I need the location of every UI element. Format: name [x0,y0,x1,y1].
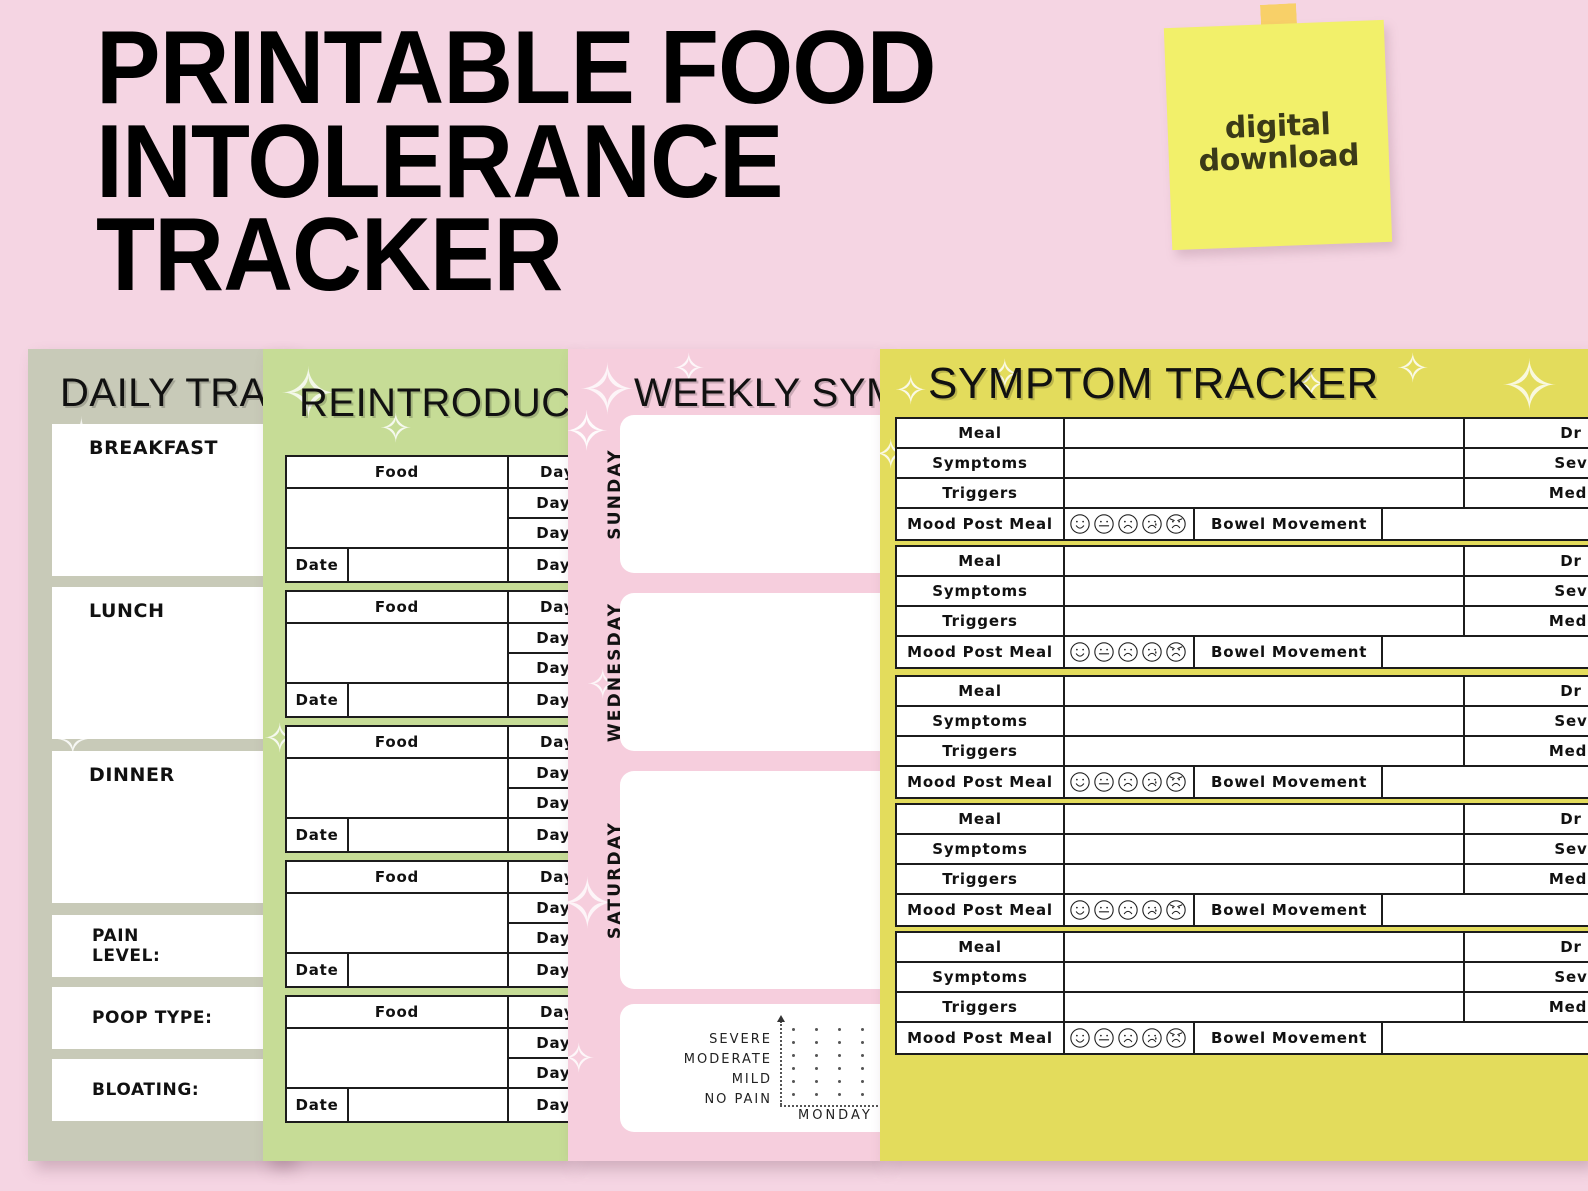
panel-symptom-tracker[interactable]: ✧ ✧ ✧ ✧ ✧ ✧ SYMPTOM TRACKER MealDrSympto… [880,349,1588,1161]
symptom-row-input-meal[interactable] [1065,933,1465,963]
daily-row-painlevel[interactable]: PAIN LEVEL:( [52,915,290,977]
symptom-row-label-symptoms: Symptoms [897,835,1065,865]
daily-row-label: BLOATING: [52,1080,199,1100]
panel-reintroduction-title: REINTRODUC [299,381,568,426]
symptom-tracker-table[interactable]: MealDrSymptomsSevTriggersMediMood Post M… [895,803,1588,927]
angry-face-icon[interactable] [1165,1027,1187,1049]
symptom-row-input-symptoms[interactable] [1065,449,1465,479]
symptom-right-label-severity: Sev [1465,449,1588,479]
weekly-entry-box-sunday[interactable] [620,415,880,573]
bowel-movement-label: Bowel Movement [1197,509,1383,539]
reintro-day-2-label: Day 2 [509,1059,568,1089]
symptom-row-label-symptoms: Symptoms [897,707,1065,737]
reintro-food-input[interactable] [287,489,509,549]
reintro-food-input[interactable] [287,1029,509,1089]
mood-rating-row[interactable]: Bowel Movement [1065,767,1588,797]
page-title: PRINTABLE FOOD INTOLERANCE TRACKER [96,22,1026,303]
symptom-right-label-drinks: Dr [1465,547,1588,577]
symptom-tracker-table[interactable]: MealDrSymptomsSevTriggersMediMood Post M… [895,931,1588,1055]
chart-x-axis-label: MONDAY [798,1108,873,1123]
symptom-row-input-symptoms[interactable] [1065,835,1465,865]
reintroduction-table[interactable]: FoodDaysQDay 1Day 2DateDay 3 [285,860,568,988]
reintro-day-1-label: Day 1 [509,489,568,519]
neutral-face-icon[interactable] [1093,1027,1115,1049]
happy-face-icon[interactable] [1069,771,1091,793]
symptom-row-input-meal[interactable] [1065,547,1465,577]
crying-face-icon[interactable] [1141,899,1163,921]
neutral-face-icon[interactable] [1093,513,1115,535]
daily-meal-card-breakfast[interactable]: BREAKFAST [52,424,290,576]
symptom-right-label-drinks: Dr [1465,419,1588,449]
symptom-right-label-medication: Medi [1465,737,1588,767]
symptom-right-label-drinks: Dr [1465,933,1588,963]
reintro-date-input[interactable] [349,819,509,851]
symptom-row-input-meal[interactable] [1065,677,1465,707]
star-decoration-icon: ✧ [568,405,609,459]
reintro-day-3-label: Day 3 [509,819,568,851]
symptom-row-label-mood-post-meal: Mood Post Meal [897,1023,1065,1053]
symptom-row-input-symptoms[interactable] [1065,577,1465,607]
happy-face-icon[interactable] [1069,641,1091,663]
weekly-entry-box-wednesday[interactable] [620,593,880,751]
chart-y-tick: MILD [628,1070,772,1090]
symptom-row-label-meal: Meal [897,419,1065,449]
panel-weekly-symptom[interactable]: ✧ ✧ ✧ ✧ ✧ ✧ ✧ WEEKLY SYM SUNDAYWEDNESDAY… [568,349,880,1161]
reintro-day-3-label: Day 3 [509,684,568,716]
reintro-date-label: Date [287,549,349,581]
sad-face-icon[interactable] [1117,771,1139,793]
pain-level-chart[interactable]: SEVEREMODERATEMILDNO PAIN MONDAY [620,1004,880,1132]
reintro-day-3-label: Day 3 [509,954,568,986]
symptom-right-label-severity: Sev [1465,707,1588,737]
angry-face-icon[interactable] [1165,513,1187,535]
reintro-food-input[interactable] [287,624,509,684]
reintroduction-table[interactable]: FoodDaysQDay 1Day 2DateDay 3 [285,995,568,1123]
digital-download-label: digital download [1197,108,1360,178]
reintro-date-label: Date [287,819,349,851]
reintro-date-label: Date [287,684,349,716]
mood-rating-row[interactable]: Bowel Movement [1065,1023,1588,1053]
daily-row-label: PAIN LEVEL: [52,926,205,966]
daily-row-bloating[interactable]: BLOATING: [52,1059,290,1121]
mood-face-group[interactable] [1069,637,1195,667]
daily-meal-card-lunch[interactable]: LUNCH [52,587,290,739]
symptom-row-input-triggers[interactable] [1065,479,1465,509]
chart-y-tick: SEVERE [628,1030,772,1050]
reintro-header-food: Food [287,592,509,624]
reintro-header-food: Food [287,862,509,894]
reintro-header-food: Food [287,457,509,489]
sad-face-icon[interactable] [1117,1027,1139,1049]
symptom-row-label-meal: Meal [897,547,1065,577]
reintroduction-table[interactable]: FoodDaysQDay 1Day 2DateDay 3 [285,590,568,718]
reintro-date-input[interactable] [349,549,509,581]
reintro-day-2-label: Day 2 [509,924,568,954]
reintro-day-2-label: Day 2 [509,519,568,549]
reintro-date-input[interactable] [349,684,509,716]
angry-face-icon[interactable] [1165,899,1187,921]
daily-row-label: POOP TYPE: [52,1008,213,1028]
symptom-row-label-meal: Meal [897,933,1065,963]
chart-y-tick: NO PAIN [628,1090,772,1110]
star-decoration-icon: ✧ [1396,349,1430,389]
daily-meal-card-dinner[interactable]: DINNER [52,751,290,903]
symptom-right-label-medication: Medi [1465,993,1588,1023]
symptom-right-label-medication: Medi [1465,479,1588,509]
happy-face-icon[interactable] [1069,1027,1091,1049]
symptom-row-input-triggers[interactable] [1065,737,1465,767]
symptom-row-label-symptoms: Symptoms [897,577,1065,607]
symptom-row-label-mood-post-meal: Mood Post Meal [897,509,1065,539]
star-decoration-icon: ✧ [894,371,928,411]
symptom-right-label-severity: Sev [1465,963,1588,993]
symptom-row-input-triggers[interactable] [1065,993,1465,1023]
reintro-date-label: Date [287,954,349,986]
sad-face-icon[interactable] [1117,641,1139,663]
symptom-tracker-table[interactable]: MealDrSymptomsSevTriggersMediMood Post M… [895,675,1588,799]
digital-download-badge: digital download [1164,20,1392,250]
symptom-row-label-triggers: Triggers [897,479,1065,509]
symptom-row-label-mood-post-meal: Mood Post Meal [897,895,1065,925]
reintro-day-2-label: Day 2 [509,789,568,819]
bowel-movement-label: Bowel Movement [1197,1023,1383,1053]
symptom-row-label-triggers: Triggers [897,737,1065,767]
reintroduction-table[interactable]: FoodDaysQDay 1Day 2DateDay 3 [285,725,568,853]
symptom-row-label-symptoms: Symptoms [897,963,1065,993]
star-decoration-icon: ✧ [568,1039,596,1079]
reintro-day-3-label: Day 3 [509,549,568,581]
weekly-entry-box-saturday[interactable] [620,771,880,989]
crying-face-icon[interactable] [1141,513,1163,535]
symptom-row-input-meal[interactable] [1065,805,1465,835]
daily-meal-label: LUNCH [52,587,290,622]
neutral-face-icon[interactable] [1093,899,1115,921]
reintro-date-input[interactable] [349,1089,509,1121]
crying-face-icon[interactable] [1141,641,1163,663]
symptom-right-label-severity: Sev [1465,835,1588,865]
symptom-right-label-medication: Medi [1465,865,1588,895]
mood-face-group[interactable] [1069,895,1195,925]
chart-dot-grid [792,1028,880,1102]
panel-daily-tracker[interactable]: ✧ ✧ DAILY TRA BREAKFASTLUNCHDINNERPAIN L… [28,349,290,1161]
happy-face-icon[interactable] [1069,899,1091,921]
neutral-face-icon[interactable] [1093,641,1115,663]
symptom-row-label-triggers: Triggers [897,993,1065,1023]
symptom-row-label-triggers: Triggers [897,865,1065,895]
reintro-day-1-label: Day 1 [509,759,568,789]
reintro-header-food: Food [287,727,509,759]
poster-canvas: PRINTABLE FOOD INTOLERANCE TRACKER digit… [0,0,1588,1191]
symptom-row-input-triggers[interactable] [1065,607,1465,637]
reintro-date-label: Date [287,1089,349,1121]
reintro-header-days: Days [509,862,568,894]
mood-face-group[interactable] [1069,1023,1195,1053]
symptom-row-input-symptoms[interactable] [1065,707,1465,737]
reintro-header-food: Food [287,997,509,1029]
chart-y-tick: MODERATE [628,1050,772,1070]
reintro-food-input[interactable] [287,759,509,819]
reintro-header-days: Days [509,997,568,1029]
star-decoration-icon: ✧ [1500,351,1559,421]
symptom-row-input-meal[interactable] [1065,419,1465,449]
reintro-header-days: Days [509,457,568,489]
symptom-row-label-triggers: Triggers [897,607,1065,637]
symptom-right-label-severity: Sev [1465,577,1588,607]
angry-face-icon[interactable] [1165,641,1187,663]
reintro-day-3-label: Day 3 [509,1089,568,1121]
mood-rating-row[interactable]: Bowel Movement [1065,637,1588,667]
symptom-row-label-mood-post-meal: Mood Post Meal [897,767,1065,797]
panel-reintroduction[interactable]: ✧ ✧ ✧ REINTRODUC FoodDaysQDay 1Day 2Date… [263,349,568,1161]
reintro-header-days: Days [509,592,568,624]
symptom-tracker-table[interactable]: MealDrSymptomsSevTriggersMediMood Post M… [895,545,1588,669]
reintro-day-1-label: Day 1 [509,1029,568,1059]
daily-meal-label: DINNER [52,751,290,786]
symptom-right-label-medication: Medi [1465,607,1588,637]
bowel-movement-label: Bowel Movement [1197,767,1383,797]
bowel-movement-label: Bowel Movement [1197,637,1383,667]
reintro-food-input[interactable] [287,894,509,954]
mood-face-group[interactable] [1069,509,1195,539]
symptom-row-label-meal: Meal [897,805,1065,835]
daily-meal-label: BREAKFAST [52,424,290,459]
panel-daily-title: DAILY TRA [60,371,267,416]
panel-weekly-title: WEEKLY SYM [634,371,880,416]
mood-rating-row[interactable]: Bowel Movement [1065,895,1588,925]
symptom-row-input-symptoms[interactable] [1065,963,1465,993]
symptom-row-label-meal: Meal [897,677,1065,707]
chart-x-axis [780,1105,880,1107]
panel-symptom-title: SYMPTOM TRACKER [928,359,1379,409]
reintro-day-1-label: Day 1 [509,624,568,654]
crying-face-icon[interactable] [1141,1027,1163,1049]
star-decoration-icon: ✧ [578,355,637,425]
angry-face-icon[interactable] [1165,771,1187,793]
symptom-row-label-symptoms: Symptoms [897,449,1065,479]
reintro-header-days: Days [509,727,568,759]
crying-face-icon[interactable] [1141,771,1163,793]
sad-face-icon[interactable] [1117,899,1139,921]
bowel-movement-label: Bowel Movement [1197,895,1383,925]
reintro-date-input[interactable] [349,954,509,986]
reintro-day-2-label: Day 2 [509,654,568,684]
neutral-face-icon[interactable] [1093,771,1115,793]
daily-row-pooptype[interactable]: POOP TYPE: [52,987,290,1049]
symptom-row-input-triggers[interactable] [1065,865,1465,895]
symptom-right-label-drinks: Dr [1465,805,1588,835]
chart-y-axis [780,1021,782,1105]
chart-y-axis-labels: SEVEREMODERATEMILDNO PAIN [628,1030,772,1110]
reintroduction-table[interactable]: FoodDaysQDay 1Day 2DateDay 3 [285,455,568,583]
reintro-day-1-label: Day 1 [509,894,568,924]
happy-face-icon[interactable] [1069,513,1091,535]
mood-face-group[interactable] [1069,767,1195,797]
mood-rating-row[interactable]: Bowel Movement [1065,509,1588,539]
symptom-right-label-drinks: Dr [1465,677,1588,707]
symptom-row-label-mood-post-meal: Mood Post Meal [897,637,1065,667]
symptom-tracker-table[interactable]: MealDrSymptomsSevTriggersMediMood Post M… [895,417,1588,541]
sad-face-icon[interactable] [1117,513,1139,535]
